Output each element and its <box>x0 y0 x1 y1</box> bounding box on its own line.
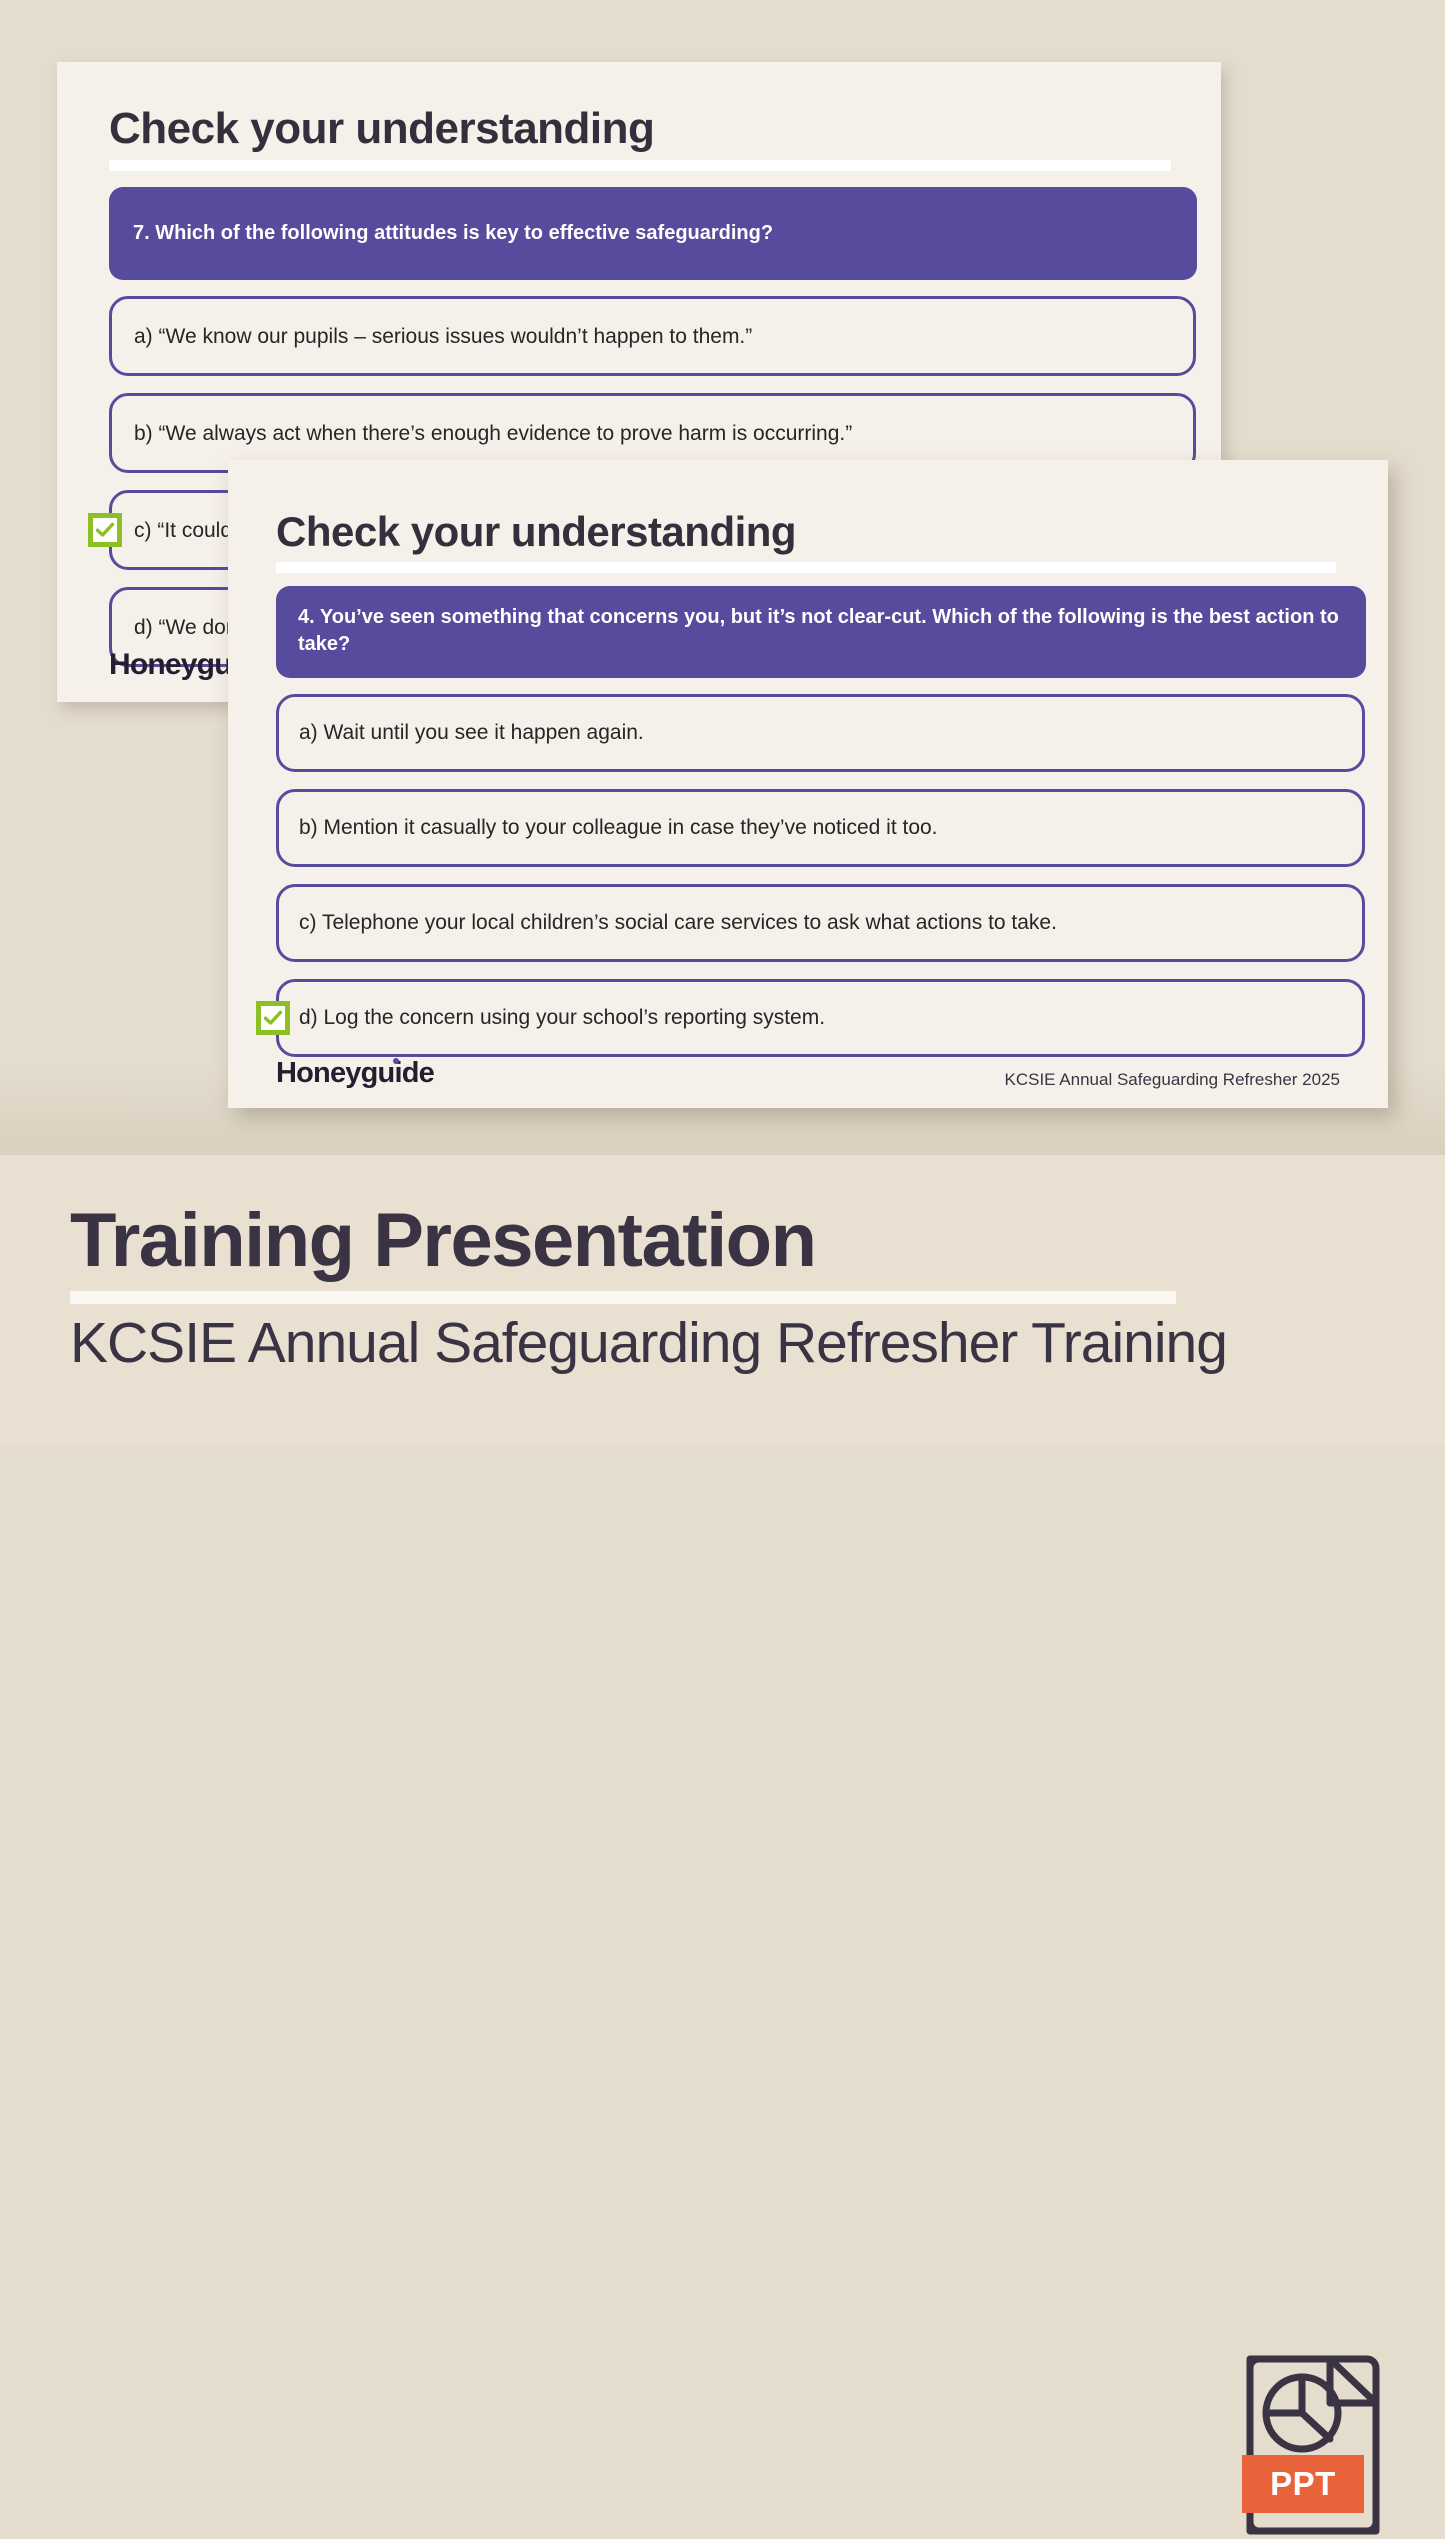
slide-title-front: Check your understanding <box>276 510 1340 554</box>
option-c-front[interactable]: c) Telephone your local children’s socia… <box>276 884 1365 962</box>
logo-dot <box>393 1058 399 1064</box>
option-label: d) Log the concern using your school’s r… <box>299 1004 825 1031</box>
option-a-back[interactable]: a) “We know our pupils – serious issues … <box>109 296 1196 376</box>
footer-note-front: KCSIE Annual Safeguarding Refresher 2025 <box>1004 1070 1340 1090</box>
ppt-badge: PPT <box>1242 2455 1364 2513</box>
slide-title-back: Check your understanding <box>109 106 1169 152</box>
question-text-front: 4. You’ve seen something that concerns y… <box>298 604 1342 658</box>
slides-stage: Check your understanding 7. Which of the… <box>0 0 1445 1155</box>
option-label: a) “We know our pupils – serious issues … <box>134 323 752 350</box>
honeyguide-logo-front: Honeyguide <box>276 1057 434 1090</box>
option-label: b) Mention it casually to your colleague… <box>299 814 938 841</box>
options-list-front: a) Wait until you see it happen again. b… <box>276 694 1340 1057</box>
question-bar-back: 7. Which of the following attitudes is k… <box>109 187 1197 280</box>
question-text-back: 7. Which of the following attitudes is k… <box>133 220 773 247</box>
bottom-banner: Training Presentation KCSIE Annual Safeg… <box>0 1155 1445 1445</box>
slide-question-4[interactable]: Check your understanding 4. You’ve seen … <box>228 460 1388 1108</box>
correct-answer-check-icon <box>256 1001 290 1035</box>
brand-text: Honeyguide <box>276 1057 434 1089</box>
option-label: c) Telephone your local children’s socia… <box>299 909 1057 936</box>
title-underline-back <box>109 160 1171 171</box>
question-bar-front: 4. You’ve seen something that concerns y… <box>276 586 1366 678</box>
option-label: b) “We always act when there’s enough ev… <box>134 420 852 447</box>
option-b-front[interactable]: b) Mention it casually to your colleague… <box>276 789 1365 867</box>
banner-subtitle: KCSIE Annual Safeguarding Refresher Trai… <box>70 1314 1180 1374</box>
banner-title: Training Presentation <box>70 1203 1180 1279</box>
banner-text-block: Training Presentation KCSIE Annual Safeg… <box>70 1203 1180 1374</box>
banner-divider <box>70 1291 1176 1304</box>
option-d-front[interactable]: d) Log the concern using your school’s r… <box>276 979 1365 1057</box>
correct-answer-check-icon <box>88 513 122 547</box>
option-a-front[interactable]: a) Wait until you see it happen again. <box>276 694 1365 772</box>
title-underline-front <box>276 562 1336 573</box>
option-label: a) Wait until you see it happen again. <box>299 719 644 746</box>
ppt-file-icon: PPT <box>1238 2351 1388 2539</box>
ppt-badge-label: PPT <box>1270 2465 1336 2503</box>
slide-footer-front: Honeyguide KCSIE Annual Safeguarding Ref… <box>276 1057 1340 1090</box>
